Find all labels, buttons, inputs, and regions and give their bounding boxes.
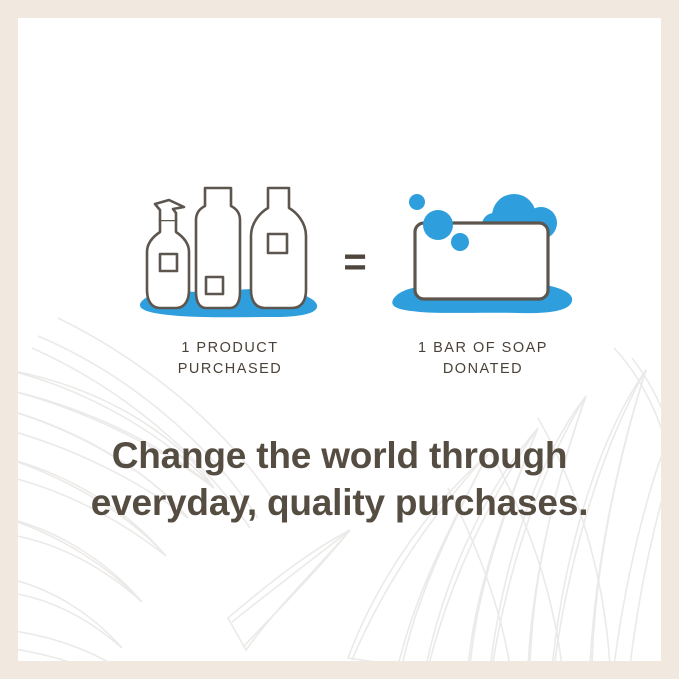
product-icon-art xyxy=(100,180,360,320)
product-caption: 1 PRODUCT PURCHASED xyxy=(100,338,360,380)
three-bottles-icon xyxy=(135,180,325,320)
tall-bottle-icon xyxy=(196,188,240,308)
pump-bottle-icon xyxy=(147,200,189,308)
infographic-canvas: 1 PRODUCT PURCHASED = xyxy=(18,18,661,661)
soap-block: 1 BAR OF SOAP DONATED xyxy=(348,180,618,380)
product-block: 1 PRODUCT PURCHASED xyxy=(100,180,360,380)
soap-bar-icon xyxy=(388,180,578,320)
infographic-card: 1 PRODUCT PURCHASED = xyxy=(0,0,679,679)
equation-row: 1 PRODUCT PURCHASED = xyxy=(18,180,661,395)
bubble-icon xyxy=(423,210,453,240)
headline-text: Change the world through everyday, quali… xyxy=(18,433,661,526)
soap-icon-art xyxy=(348,180,618,320)
bubble-icon xyxy=(451,233,469,251)
round-shoulder-bottle-icon xyxy=(251,188,306,308)
soap-caption: 1 BAR OF SOAP DONATED xyxy=(348,338,618,380)
bubble-icon xyxy=(409,194,425,210)
